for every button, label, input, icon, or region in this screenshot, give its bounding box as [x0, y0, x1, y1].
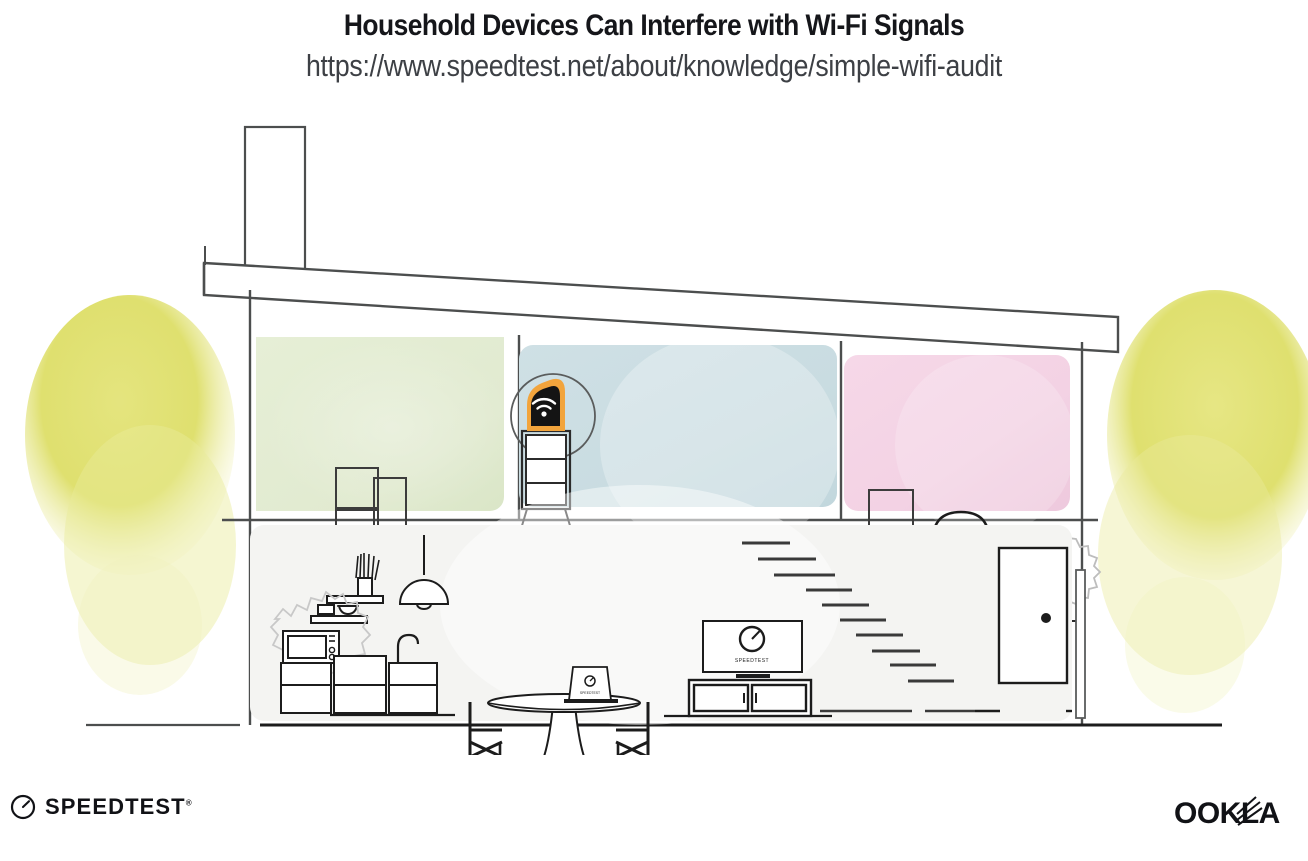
- tv-screen-label: SPEEDTEST: [735, 658, 769, 664]
- tree-left-icon: [25, 295, 236, 695]
- ookla-wordmark-text: OOKLA: [1174, 797, 1280, 830]
- front-door-icon[interactable]: [999, 548, 1067, 683]
- header: Household Devices Can Interfere with Wi-…: [0, 0, 1308, 84]
- speedtest-logo[interactable]: SPEEDTEST®: [10, 794, 192, 820]
- media-console-icon: [689, 680, 811, 716]
- tree-right-icon: [1098, 290, 1308, 713]
- side-pillar: [1076, 570, 1085, 718]
- ookla-logo[interactable]: OOKLA: [1174, 794, 1308, 839]
- television-speedtest-icon: SPEEDTEST: [703, 621, 802, 678]
- footer: SPEEDTEST® OOKLA: [0, 780, 1308, 861]
- laptop-screen-label: SPEEDTEST: [580, 691, 600, 695]
- speedtest-wordmark-text: SPEEDTEST: [45, 794, 186, 819]
- roof: [204, 246, 1118, 352]
- room-ground-floor: SPEEDTEST: [250, 485, 1072, 755]
- illustration-page: Household Devices Can Interfere with Wi-…: [0, 0, 1308, 861]
- speedtest-wordmark: SPEEDTEST®: [45, 794, 192, 820]
- house-illustration: SPEEDTEST: [0, 105, 1308, 755]
- chimney-icon: [245, 127, 305, 282]
- page-url: https://www.speedtest.net/about/knowledg…: [92, 43, 1217, 84]
- speedtest-trademark: ®: [186, 799, 192, 808]
- microwave-icon: [283, 631, 339, 663]
- speedometer-icon: [10, 794, 36, 820]
- page-title: Household Devices Can Interfere with Wi-…: [78, 0, 1229, 43]
- ookla-wordmark: OOKLA: [1174, 794, 1308, 834]
